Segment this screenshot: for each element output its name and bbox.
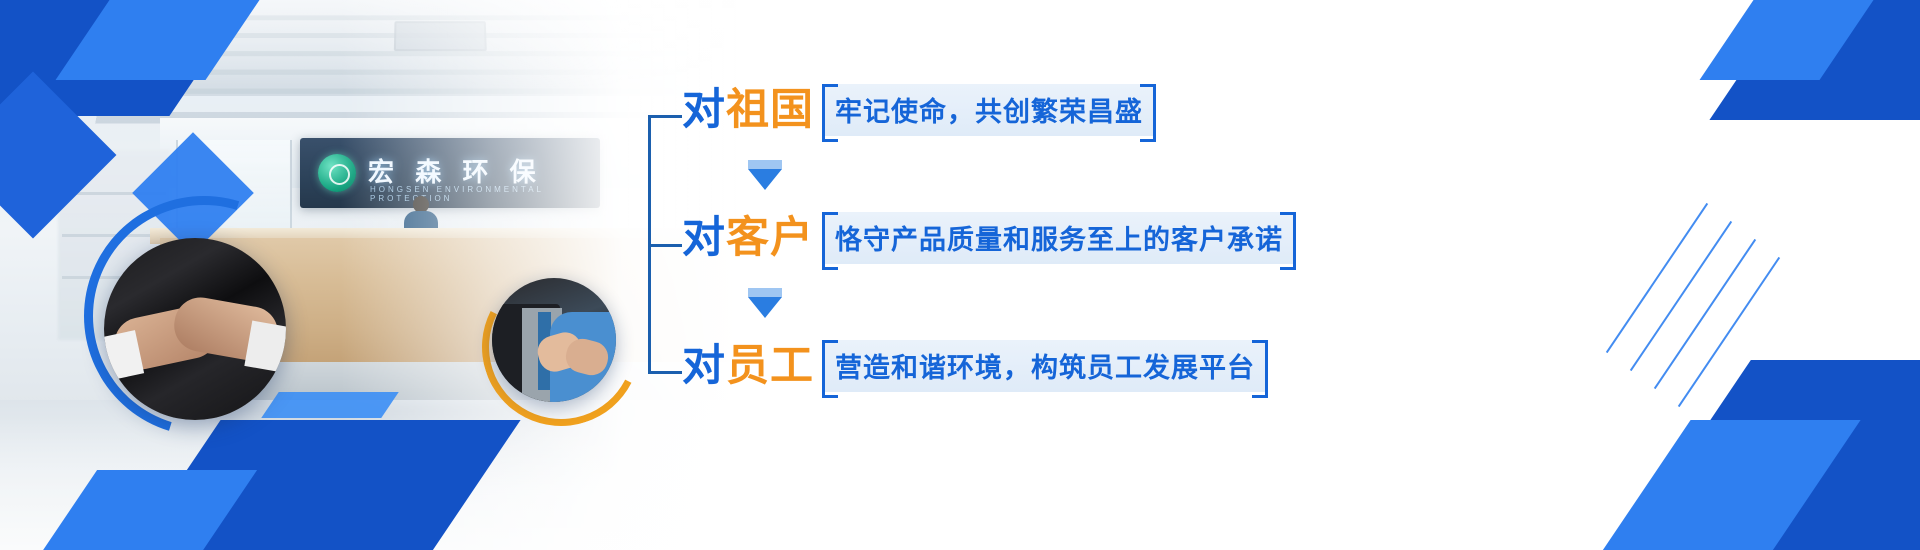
company-values-banner: 宏 森 环 保 HONGSEN ENVIRONMENTAL PROTECTION <box>0 0 1920 550</box>
value-quote-1: 牢记使命，共创繁荣昌盛 <box>822 84 1156 136</box>
values-list: 对祖国 牢记使命，共创繁荣昌盛 对客户 恪守产品质量和服务至上的客户承诺 对员工… <box>648 84 1348 384</box>
value-quote-3: 营造和谐环境，构筑员工发展平台 <box>822 340 1268 392</box>
value-lead-1: 对祖国 <box>682 89 814 132</box>
value-lead-prefix-1: 对 <box>682 85 726 135</box>
down-arrow-2 <box>748 288 782 318</box>
value-lead-prefix-3: 对 <box>682 341 726 391</box>
value-lead-target-2: 客户 <box>726 213 814 263</box>
people-photo <box>492 278 616 402</box>
tree-stub-1 <box>648 115 682 118</box>
value-row-2: 对客户 恪守产品质量和服务至上的客户承诺 <box>682 212 1296 264</box>
value-row-3: 对员工 营造和谐环境，构筑员工发展平台 <box>682 340 1268 392</box>
value-row-1: 对祖国 牢记使命，共创繁荣昌盛 <box>682 84 1156 136</box>
tree-stub-3 <box>648 371 682 374</box>
down-arrow-1 <box>748 160 782 190</box>
value-lead-prefix-2: 对 <box>682 213 726 263</box>
value-lead-target-3: 员工 <box>726 341 814 391</box>
value-quote-2: 恪守产品质量和服务至上的客户承诺 <box>822 212 1296 264</box>
value-lead-2: 对客户 <box>682 217 814 260</box>
value-lead-3: 对员工 <box>682 345 814 388</box>
handshake-photo <box>104 238 286 420</box>
tree-stub-2 <box>648 244 682 247</box>
value-lead-target-1: 祖国 <box>726 85 814 135</box>
